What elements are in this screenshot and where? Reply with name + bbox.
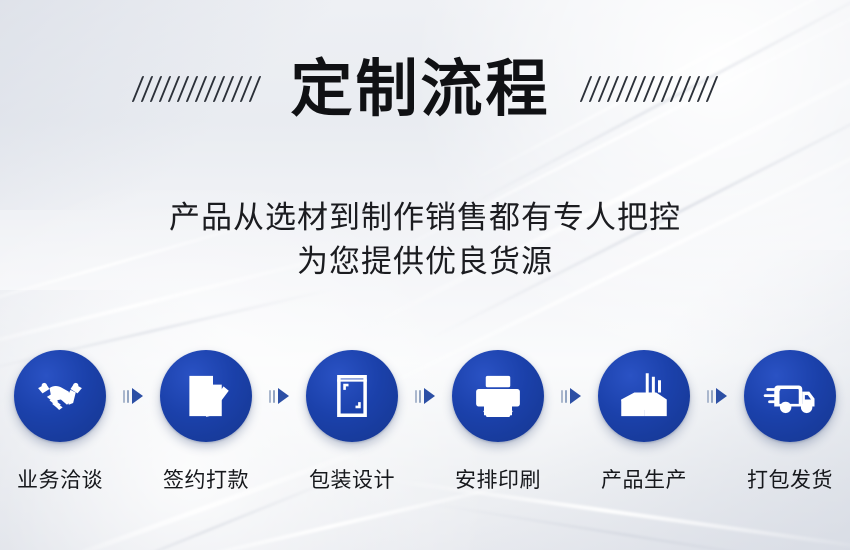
step-icon-circle[interactable] xyxy=(452,350,544,442)
step-packaging-design[interactable]: 包装设计 xyxy=(297,350,407,494)
step-arrow xyxy=(115,350,151,442)
promo-banner: 定制流程 产品从选材到制作销售都有专人把控 为您提供优良货源 xyxy=(0,0,850,550)
step-arrow xyxy=(407,350,443,442)
step-label: 产品生产 xyxy=(601,464,687,494)
step-icon-circle[interactable] xyxy=(598,350,690,442)
step-label: 安排印刷 xyxy=(455,464,541,494)
step-icon-circle[interactable] xyxy=(160,350,252,442)
subtitle-line-2: 为您提供优良货源 xyxy=(0,240,850,284)
step-pack-and-ship[interactable]: 打包发货 xyxy=(735,350,845,494)
slash-ornament-left xyxy=(133,76,260,102)
printer-icon xyxy=(470,368,526,424)
factory-icon xyxy=(616,368,672,424)
delivery-truck-icon xyxy=(762,368,818,424)
subtitle-line-1: 产品从选材到制作销售都有专人把控 xyxy=(0,196,850,240)
step-label: 签约打款 xyxy=(163,464,249,494)
step-business-negotiation[interactable]: 业务洽谈 xyxy=(5,350,115,494)
slash-ornament-right xyxy=(581,76,717,102)
title-row: 定制流程 xyxy=(0,58,850,120)
step-label: 打包发货 xyxy=(747,464,833,494)
light-streak xyxy=(422,501,837,550)
handshake-icon xyxy=(32,368,88,424)
step-icon-circle[interactable] xyxy=(744,350,836,442)
process-steps: 业务洽谈 签约打款 xyxy=(0,350,850,494)
step-label: 包装设计 xyxy=(309,464,395,494)
step-icon-circle[interactable] xyxy=(306,350,398,442)
step-sign-and-pay[interactable]: 签约打款 xyxy=(151,350,261,494)
step-arrange-printing[interactable]: 安排印刷 xyxy=(443,350,553,494)
step-arrow xyxy=(699,350,735,442)
step-arrow xyxy=(553,350,589,442)
subtitle-block: 产品从选材到制作销售都有专人把控 为您提供优良货源 xyxy=(0,196,850,284)
step-product-manufacturing[interactable]: 产品生产 xyxy=(589,350,699,494)
step-arrow xyxy=(261,350,297,442)
step-icon-circle[interactable] xyxy=(14,350,106,442)
package-bag-icon xyxy=(324,368,380,424)
contract-pen-icon xyxy=(178,368,234,424)
step-label: 业务洽谈 xyxy=(17,464,103,494)
page-title: 定制流程 xyxy=(290,58,550,120)
